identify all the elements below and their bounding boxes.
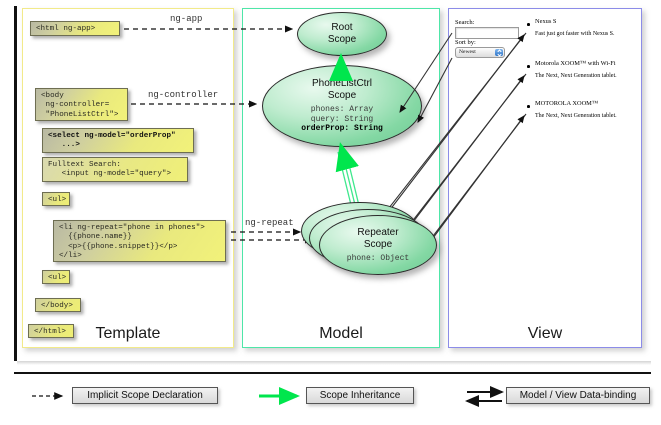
arrow-label-ng-controller: ng-controller	[146, 90, 220, 100]
panel-title-model: Model	[243, 325, 439, 343]
panel-view: View	[448, 8, 642, 348]
view-list-bullet	[527, 105, 530, 108]
view-list-item: Nexus S Fast just got faster with Nexus …	[535, 18, 645, 38]
view-list-bullet	[527, 23, 530, 26]
view-sort-select-value: Newest	[459, 49, 476, 55]
view-item-snippet: Fast just got faster with Nexus S.	[535, 30, 645, 38]
ul-close-box: <ul>	[42, 270, 70, 284]
arrow-label-ng-repeat: ng-repeat	[243, 218, 296, 228]
html-tag-box: <html ng-app>	[30, 21, 120, 36]
panel-title-view: View	[449, 325, 641, 343]
phonelistctrl-scope-members: phones: Arrayquery: StringorderProp: Str…	[301, 105, 383, 134]
arrow-label-ng-app: ng-app	[168, 14, 204, 24]
legend-item-implicit-scope-declaration: Implicit Scope Declaration	[72, 387, 218, 404]
li-repeat-box: <li ng-repeat="phone in phones"> {{phone…	[53, 220, 226, 262]
view-list-item: Motorola XOOM™ with Wi-Fi The Next, Next…	[535, 60, 650, 80]
html-close-box: </html>	[28, 324, 74, 338]
view-item-name: Motorola XOOM™ with Wi-Fi	[535, 60, 650, 68]
view-item-snippet: The Next, Next Generation tablet.	[535, 112, 650, 120]
repeater-scope-title: RepeaterScope	[357, 227, 398, 251]
diagram-root: Template <html ng-app> <body ng-controll…	[0, 0, 661, 425]
view-item-snippet: The Next, Next Generation tablet.	[535, 72, 650, 80]
root-scope-title: RootScope	[328, 22, 356, 46]
repeater-scope-members: phone: Object	[347, 254, 409, 264]
view-list-item: MOTOROLA XOOM™ The Next, Next Generation…	[535, 100, 650, 120]
legend-item-model-view-data-binding: Model / View Data-binding	[506, 387, 650, 404]
view-item-name: MOTOROLA XOOM™	[535, 100, 650, 108]
view-list-bullet	[527, 65, 530, 68]
view-sort-label: Sort by:	[455, 39, 476, 46]
repeater-scope: RepeaterScope phone: Object	[319, 215, 437, 275]
root-scope: RootScope	[297, 12, 387, 56]
ul-open-box: <ul>	[42, 192, 70, 206]
body-close-box: </body>	[35, 298, 81, 312]
phonelistctrl-scope-title: PhoneListCtrlScope	[312, 78, 372, 102]
chevron-updown-icon	[495, 49, 503, 56]
legend-item-scope-inheritance: Scope Inheritance	[306, 387, 414, 404]
view-search-label: Search:	[455, 19, 475, 26]
body-tag-box: <body ng-controller= "PhoneListCtrl">	[35, 88, 128, 121]
frame-shadow	[17, 361, 651, 365]
phonelistctrl-scope: PhoneListCtrlScope phones: Arrayquery: S…	[262, 65, 422, 147]
view-item-name: Nexus S	[535, 18, 645, 26]
panel-model: Model	[242, 8, 440, 348]
search-input-box: Fulltext Search: <input ng-model="query"…	[42, 157, 188, 182]
select-tag-box: <select ng-model="orderProp" ...>	[42, 128, 194, 153]
view-sort-select[interactable]: Newest	[455, 47, 505, 58]
view-search-input[interactable]	[455, 27, 519, 39]
legend: Implicit Scope Declaration Scope Inherit…	[14, 372, 651, 424]
